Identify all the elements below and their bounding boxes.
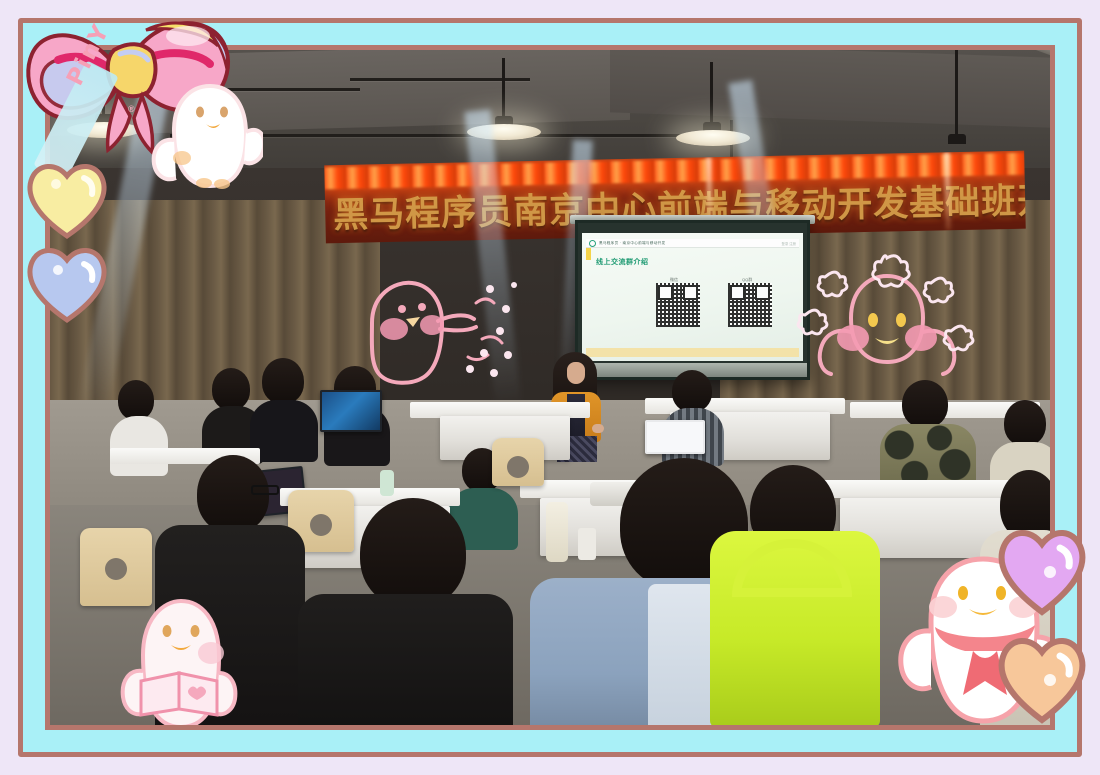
pendant-cap [948, 134, 966, 144]
torso [980, 530, 1050, 725]
torso [250, 400, 318, 462]
qr-left-label: 微信 [670, 277, 678, 283]
brand-logo-icon [589, 240, 596, 247]
student-foreground-center [298, 498, 513, 725]
presenter-face [567, 362, 585, 384]
slide-side-tab [586, 248, 591, 260]
head [1004, 400, 1046, 446]
pendant-rod [710, 62, 713, 124]
student-right-edge [980, 470, 1050, 725]
student-foreground-left [155, 455, 305, 725]
watermark-registered-icon: ® [128, 104, 135, 114]
slide-account-links: 登录 注册 [781, 241, 796, 246]
eyeglasses [251, 485, 279, 495]
projector-screen-surface: 黑马程序员 · 南京中心前端与移动开发 登录 注册 线上交流群介绍 微信 QQ群 [582, 233, 803, 361]
ceiling-slab-right [610, 50, 1050, 128]
pendant-rod [502, 58, 505, 118]
head [902, 380, 948, 428]
pendant-lamp [467, 124, 541, 140]
presenter-hand [592, 424, 604, 433]
monitor-screen-white [647, 422, 703, 452]
ceiling-conduit [170, 134, 730, 137]
hood-collar [648, 584, 716, 725]
slide-browser-bar: 黑马程序员 · 南京中心前端与移动开发 登录 注册 [586, 239, 799, 248]
student-neon-hoodie [710, 465, 880, 695]
student-camo-jacket [880, 380, 976, 490]
head [212, 368, 250, 410]
torso [155, 525, 305, 725]
pendant-lamp [676, 130, 750, 146]
qr-right-label: QQ群 [742, 277, 752, 283]
laptop-desktop [322, 392, 380, 430]
head [360, 498, 466, 608]
photograph: 黑马程序员南京中心前端与移动开发基础班开班典礼 黑马程序员 · 南京中心前端与移… [50, 50, 1050, 725]
head [262, 358, 304, 404]
torso [298, 594, 513, 725]
laptop-screen[interactable] [320, 390, 382, 432]
ceiling-conduit [110, 88, 360, 91]
slide-footer-band [586, 348, 799, 357]
head [118, 380, 154, 420]
ceiling-slab-left [50, 50, 630, 136]
monitor-right[interactable] [645, 420, 705, 454]
chair-hole [105, 558, 127, 580]
head [672, 370, 712, 412]
chair-hole [507, 456, 529, 478]
bottle-small [380, 470, 394, 496]
qr-code-qq [728, 283, 772, 327]
pendant-rod [955, 50, 958, 136]
slide-heading: 线上交流群介绍 [596, 257, 649, 267]
chair-2 [80, 528, 152, 606]
slide-site-title: 黑马程序员 · 南京中心前端与移动开发 [599, 241, 665, 246]
qr-code-wechat [656, 283, 700, 327]
student-back-dark-2 [250, 358, 318, 458]
